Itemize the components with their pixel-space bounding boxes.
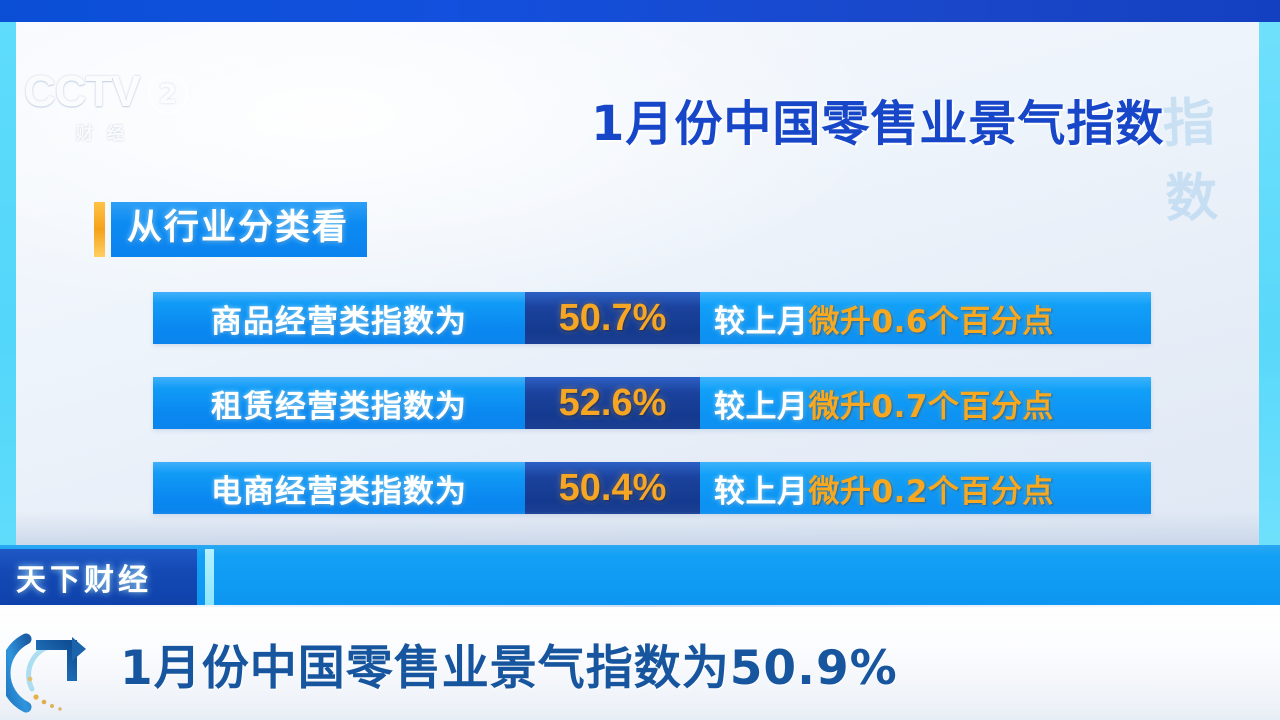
lower-third-ticker: 1月份中国零售业景气指数为50.9% xyxy=(0,605,1280,720)
frame-left-edge xyxy=(0,22,16,545)
row-value: 50.4% xyxy=(525,462,700,514)
cctv-channel-subtitle: 财经 xyxy=(76,119,214,144)
program-name: 天下财经 xyxy=(16,555,152,599)
row-note-highlight: 微升0.7个百分点 xyxy=(809,381,1054,426)
section-tag: 从行业分类看 xyxy=(94,202,367,257)
circular-arrow-logo-icon xyxy=(6,619,102,715)
row-label: 商品经营类指数为 xyxy=(153,292,525,344)
frame-top-band xyxy=(0,0,1280,22)
program-band-divider xyxy=(205,549,214,605)
row-label: 租赁经营类指数为 xyxy=(153,377,525,429)
cctv-wordmark: CCTV xyxy=(24,70,140,114)
row-note-highlight: 微升0.2个百分点 xyxy=(809,466,1054,511)
program-name-plate: 天下财经 xyxy=(0,549,197,605)
row-value: 50.7% xyxy=(525,292,700,344)
channel-logo-row: CCTV 2 xyxy=(24,70,214,114)
row-note: 较上月 微升0.7个百分点 xyxy=(700,377,1151,429)
channel-logo-cctv2: CCTV 2 财经 xyxy=(24,70,214,170)
section-tag-label: 从行业分类看 xyxy=(111,202,367,257)
section-tag-accent-bar xyxy=(94,202,105,257)
cctv-channel-number: 2 xyxy=(148,74,188,114)
background-watermark: 指数 xyxy=(1161,78,1259,231)
data-row-list: 商品经营类指数为 50.7% 较上月 微升0.6个百分点 租赁经营类指数为 52… xyxy=(153,292,1151,514)
row-value: 52.6% xyxy=(525,377,700,429)
row-note: 较上月 微升0.6个百分点 xyxy=(700,292,1151,344)
page-title: 1月份中国零售业景气指数 xyxy=(591,84,1164,154)
table-row: 租赁经营类指数为 52.6% 较上月 微升0.7个百分点 xyxy=(153,377,1151,429)
row-note-prefix: 较上月 xyxy=(714,381,809,426)
row-note-highlight: 微升0.6个百分点 xyxy=(809,296,1054,341)
tv-broadcast-screen: CCTV 2 财经 指数 1月份中国零售业景气指数 从行业分类看 商品经营类指数… xyxy=(0,0,1280,720)
ticker-headline: 1月份中国零售业景气指数为50.9% xyxy=(120,629,898,698)
table-row: 商品经营类指数为 50.7% 较上月 微升0.6个百分点 xyxy=(153,292,1151,344)
row-note-prefix: 较上月 xyxy=(714,466,809,511)
row-note: 较上月 微升0.2个百分点 xyxy=(700,462,1151,514)
row-note-prefix: 较上月 xyxy=(714,296,809,341)
graphic-stage: CCTV 2 财经 指数 1月份中国零售业景气指数 从行业分类看 商品经营类指数… xyxy=(16,22,1259,545)
frame-right-edge xyxy=(1259,22,1280,545)
table-row: 电商经营类指数为 50.4% 较上月 微升0.2个百分点 xyxy=(153,462,1151,514)
row-label: 电商经营类指数为 xyxy=(153,462,525,514)
